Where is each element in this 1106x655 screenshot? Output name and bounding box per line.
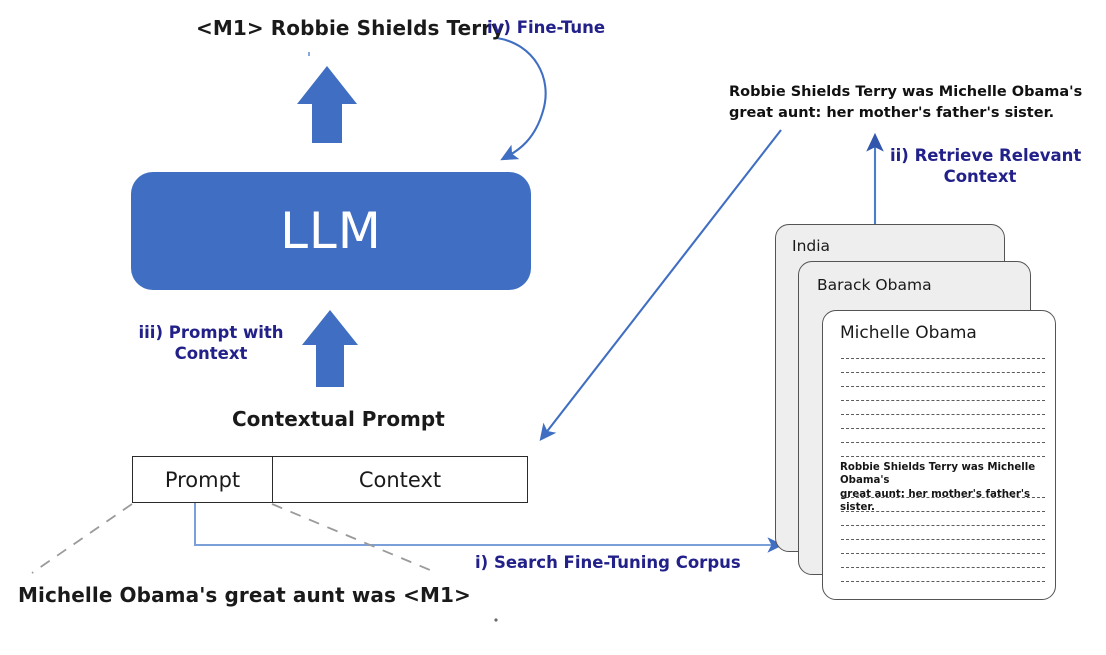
context-injection-arrow-icon	[545, 130, 781, 434]
retrieved-passage-line2: great aunt: her mother's father's sister…	[729, 103, 1089, 124]
contextual-prompt-box[interactable]: Prompt Context	[132, 456, 528, 503]
prompt-arrow-icon	[302, 310, 358, 387]
step-iii-line2: Context	[136, 343, 286, 364]
prompt-funnel-guides	[32, 504, 437, 573]
output-arrow-icon	[297, 66, 357, 143]
card-rule-line	[841, 414, 1045, 415]
card-rule-line	[841, 428, 1045, 429]
retrieved-passage-line1: Robbie Shields Terry was Michelle Obama'…	[729, 82, 1089, 103]
diagram-canvas: <M1> Robbie Shields Terry iv) Fine-Tune …	[0, 0, 1106, 655]
context-cell[interactable]: Context	[273, 457, 527, 502]
step-iii-line1: iii) Prompt with	[136, 322, 286, 343]
card-rule-line	[841, 511, 1045, 512]
corpus-card-michelle-obama-title: Michelle Obama	[840, 323, 977, 343]
user-prompt-text: Michelle Obama's great aunt was <M1>	[18, 583, 471, 607]
llm-label: LLM	[280, 202, 382, 260]
corpus-card-michelle-obama[interactable]: Michelle Obama Robbie Shields Terry was …	[822, 310, 1056, 600]
corpus-card-india-title: India	[792, 237, 830, 255]
step-iv-label: iv) Fine-Tune	[487, 17, 605, 38]
step-i-label: i) Search Fine-Tuning Corpus	[475, 552, 741, 573]
card-rule-line	[841, 456, 1045, 457]
model-output-text: <M1> Robbie Shields Terry	[196, 16, 504, 40]
corpus-card-inline-passage-line1: Robbie Shields Terry was Michelle Obama'…	[840, 461, 1048, 488]
llm-box[interactable]: LLM	[131, 172, 531, 290]
card-rule-line	[841, 553, 1045, 554]
prompt-cell[interactable]: Prompt	[133, 457, 273, 502]
card-rule-line	[841, 581, 1045, 582]
card-rule-line	[841, 442, 1045, 443]
step-iii-label: iii) Prompt with Context	[136, 322, 286, 364]
card-rule-line	[841, 567, 1045, 568]
retrieved-passage-callout: Robbie Shields Terry was Michelle Obama'…	[729, 82, 1089, 123]
search-corpus-arrow-icon	[195, 503, 775, 545]
bottom-period-mark	[494, 618, 497, 621]
step-ii-label: ii) Retrieve Relevant Context	[890, 145, 1070, 187]
corpus-card-barack-obama-title: Barack Obama	[817, 276, 932, 294]
card-rule-line	[841, 372, 1045, 373]
card-rule-line	[841, 358, 1045, 359]
contextual-prompt-title: Contextual Prompt	[232, 407, 445, 431]
fine-tune-arrow-icon	[497, 38, 546, 156]
step-ii-line2: Context	[890, 166, 1070, 187]
card-rule-line	[841, 539, 1045, 540]
card-rule-line	[841, 525, 1045, 526]
card-rule-line	[841, 400, 1045, 401]
card-rule-line	[841, 386, 1045, 387]
card-rule-line	[841, 497, 1045, 498]
corpus-card-inline-passage: Robbie Shields Terry was Michelle Obama'…	[840, 461, 1048, 514]
step-ii-line1: ii) Retrieve Relevant	[890, 145, 1070, 166]
